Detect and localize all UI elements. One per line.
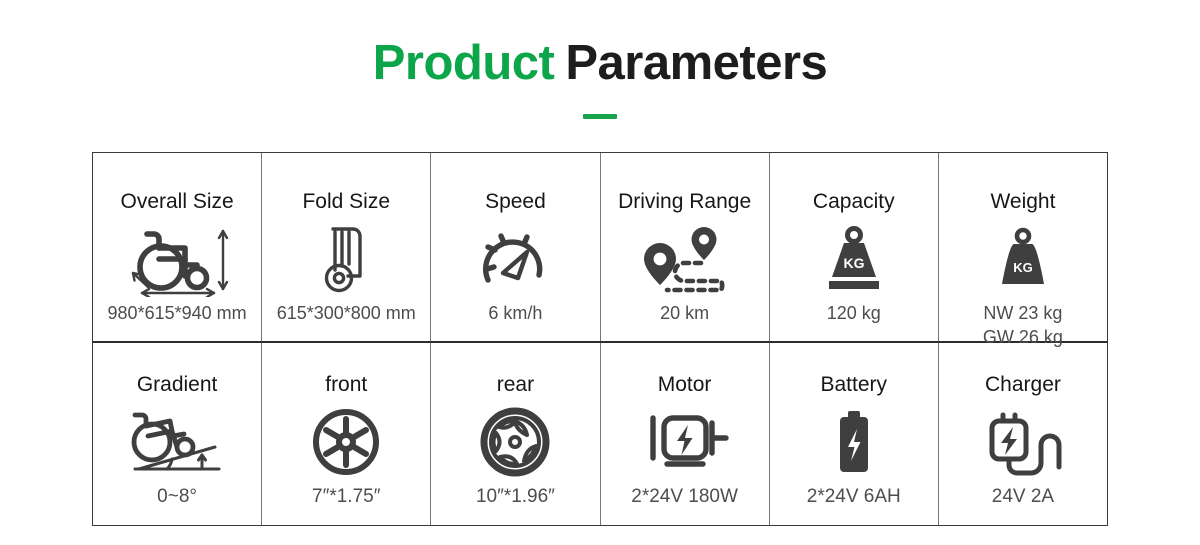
spec-cell-gradient[interactable]: Gradient <box>93 343 261 525</box>
spec-cell-driving-range[interactable]: Driving Range 20 km <box>600 153 769 341</box>
spec-cell-capacity[interactable]: Capacity KG 120 kg <box>769 153 938 341</box>
spec-cell-front-wheel[interactable]: front <box>261 343 430 525</box>
rear-tire-icon <box>479 407 551 477</box>
kg-weight-icon: KG <box>822 223 886 297</box>
spec-table: Overall Size <box>92 152 1108 526</box>
motor-icon <box>637 407 733 477</box>
spec-value: 7″*1.75″ <box>312 485 380 509</box>
svg-text:KG: KG <box>1013 260 1033 275</box>
spec-cell-weight[interactable]: Weight KG NW 23 kg GW 26 kg <box>938 153 1107 341</box>
spec-cell-speed[interactable]: Speed 6 km <box>430 153 599 341</box>
page-header: ProductParameters <box>0 34 1200 119</box>
spec-value: 6 km/h <box>488 301 542 325</box>
wheelchair-dimensions-icon <box>123 223 231 297</box>
spec-cell-charger[interactable]: Charger 24V 2A <box>938 343 1107 525</box>
speedometer-icon <box>475 223 555 297</box>
wheelchair-slope-icon <box>121 407 233 477</box>
spec-label: front <box>325 372 367 397</box>
spec-cell-battery[interactable]: Battery 2*24V 6AH <box>769 343 938 525</box>
kg-weight-icon: KG <box>993 223 1053 297</box>
spec-value: 24V 2A <box>992 485 1054 509</box>
charger-plug-icon <box>980 407 1066 477</box>
spec-label: Motor <box>658 372 712 397</box>
spec-label: Overall Size <box>120 189 233 214</box>
table-row: Overall Size <box>93 153 1107 341</box>
title-underline-rule <box>583 114 617 119</box>
spec-value: 980*615*940 mm <box>108 301 247 325</box>
spec-label: Speed <box>485 189 546 214</box>
route-map-pins-icon <box>630 223 740 297</box>
spec-value: NW 23 kg <box>983 301 1062 325</box>
spec-cell-overall-size[interactable]: Overall Size <box>93 153 261 341</box>
spec-value: 120 kg <box>827 301 881 325</box>
spec-value: 10″*1.96″ <box>476 485 555 509</box>
spec-label: Battery <box>821 372 888 397</box>
folded-wheelchair-icon <box>311 223 381 297</box>
spec-label: Charger <box>985 372 1061 397</box>
spec-label: Capacity <box>813 189 895 214</box>
table-row: Gradient <box>93 341 1107 525</box>
page-title: ProductParameters <box>0 34 1200 92</box>
spec-label: Weight <box>990 189 1055 214</box>
battery-icon <box>829 407 879 477</box>
spec-value: 615*300*800 mm <box>277 301 416 325</box>
spec-label: Driving Range <box>618 189 751 214</box>
spec-value: 2*24V 180W <box>631 485 738 509</box>
svg-text:KG: KG <box>843 255 864 271</box>
spec-label: Fold Size <box>302 189 390 214</box>
spec-cell-rear-tire[interactable]: rear <box>430 343 599 525</box>
spec-value: 0~8° <box>157 485 197 509</box>
front-wheel-icon <box>311 407 381 477</box>
spec-value: 20 km <box>660 301 709 325</box>
spec-label: rear <box>497 372 534 397</box>
page-title-green: Product <box>373 36 555 90</box>
spec-cell-motor[interactable]: Motor 2*24V 180W <box>600 343 769 525</box>
product-parameters-page: ProductParameters Overall Size <box>0 0 1200 545</box>
spec-value: 2*24V 6AH <box>807 485 901 509</box>
page-title-dark: Parameters <box>565 36 827 90</box>
spec-label: Gradient <box>137 372 218 397</box>
spec-cell-fold-size[interactable]: Fold Size 615*300*800 mm <box>261 153 430 341</box>
